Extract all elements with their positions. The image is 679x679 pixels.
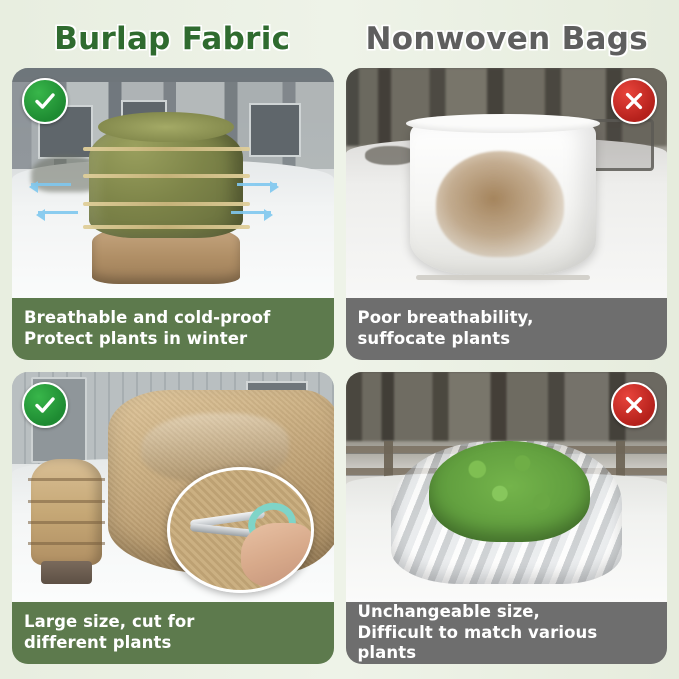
caption-line-2: Difficult to match various plants: [358, 623, 656, 664]
caption-line-1: Large size, cut for: [24, 612, 322, 633]
cell-burlap-winter-protection: Breathable and cold-proof Protect plants…: [12, 68, 334, 360]
airflow-arrow-right-icon: [237, 183, 277, 186]
caption-line-2: Protect plants in winter: [24, 329, 322, 350]
caption-line-1: Breathable and cold-proof: [24, 308, 322, 329]
comparison-grid: Breathable and cold-proof Protect plants…: [12, 68, 667, 664]
header-nonwoven-bags: Nonwoven Bags: [347, 22, 668, 56]
caption-nonwoven-fixed-size: Unchangeable size, Difficult to match va…: [346, 602, 668, 664]
cross-badge-icon: [611, 382, 657, 428]
caption-line-2: suffocate plants: [358, 329, 656, 350]
check-badge-icon: [22, 382, 68, 428]
cross-badge-icon: [611, 78, 657, 124]
photo-shiny-cover-not-fitting-shrub: [346, 372, 668, 602]
check-badge-icon: [22, 78, 68, 124]
caption-line-1: Poor breathability,: [358, 308, 656, 329]
airflow-arrow-left-lower-icon: [38, 211, 78, 214]
photo-burlap-sheet-with-scissors: [12, 372, 334, 602]
header-row: Burlap Fabric Nonwoven Bags: [12, 10, 667, 68]
photo-burlap-wrapped-plant: [12, 68, 334, 298]
cell-nonwoven-fixed-size: Unchangeable size, Difficult to match va…: [346, 372, 668, 664]
caption-nonwoven-poor-breathability: Poor breathability, suffocate plants: [346, 298, 668, 360]
cell-burlap-cuttable-size: Large size, cut for different plants: [12, 372, 334, 664]
header-burlap-fabric: Burlap Fabric: [12, 22, 333, 56]
airflow-arrow-left-icon: [31, 183, 71, 186]
closeup-inset-cutting-burlap: [167, 467, 314, 593]
caption-line-2: different plants: [24, 633, 322, 654]
cell-nonwoven-poor-breathability: Poor breathability, suffocate plants: [346, 68, 668, 360]
product-comparison-infographic: Burlap Fabric Nonwoven Bags: [0, 0, 679, 679]
airflow-arrow-right-lower-icon: [231, 211, 271, 214]
photo-nonwoven-bag-suffocating-plant: [346, 68, 668, 298]
caption-burlap-cuttable-size: Large size, cut for different plants: [12, 602, 334, 664]
caption-burlap-winter-protection: Breathable and cold-proof Protect plants…: [12, 298, 334, 360]
caption-line-1: Unchangeable size,: [358, 602, 656, 623]
